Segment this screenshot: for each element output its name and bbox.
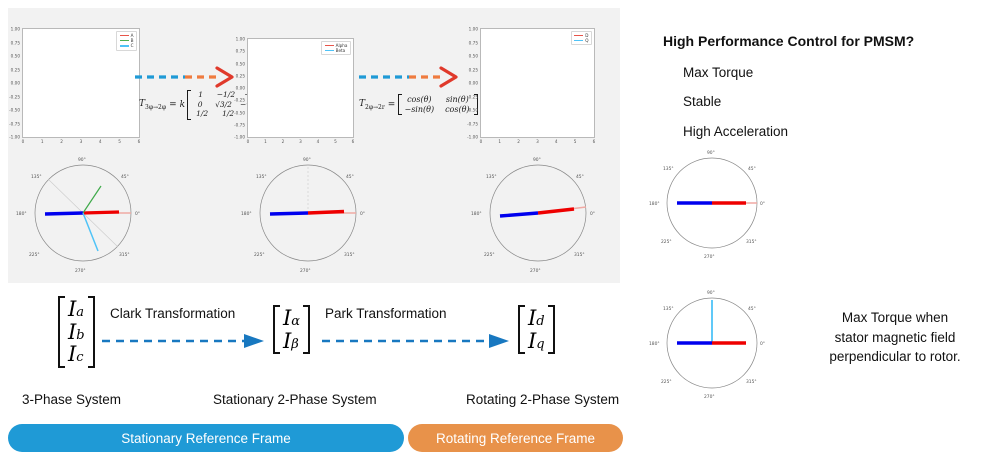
park-transform-formula: T2φ→2r = cos(θ) sin(θ) −sin(θ) cos(θ) [359,94,478,115]
polar-angle-label: 90° [78,157,86,163]
y-tick-label: -0.50 [9,108,20,113]
x-tick-label: 2 [517,139,520,144]
y-tick-label: -0.75 [9,121,20,126]
polar-angle-label: 45° [121,174,129,180]
vector-row: Ia [68,298,85,321]
legend-swatch-q [574,40,583,41]
bracket-left [518,305,525,354]
rotating-reference-frame-banner[interactable]: Rotating Reference Frame [408,424,623,452]
x-tick-label: 2 [60,139,63,144]
bracket-right [548,305,555,354]
polar-angle-label: 180° [471,211,482,217]
polar-angle-label: 45° [576,174,584,180]
matrix-cell: −sin(θ) [404,105,434,114]
max-torque-note: Max Torque when stator magnetic field pe… [800,308,990,367]
y-tick-label: 0.00 [11,81,20,86]
plot-frame: Alpha Beta 1.00 0.75 0.50 0.25 0.00 -0.2… [247,38,354,138]
stationary-two-phase-system-label: Stationary 2-Phase System [213,392,377,407]
polar-angle-label: 135° [31,174,42,180]
note-line: Max Torque when [800,308,990,328]
polar-angle-label: 225° [254,252,265,258]
y-tick-label: -0.50 [234,110,245,115]
polar-angle-label: 90° [533,157,541,163]
y-tick-label: 0.25 [469,67,478,72]
vector-row: Iβ [283,330,300,353]
polar-angle-label: 0° [360,211,365,217]
note-line: perpendicular to rotor. [800,347,990,367]
y-tick-label: -1.00 [9,135,20,140]
y-tick-label: 0.25 [11,67,20,72]
plot-legend: D Q [571,31,592,45]
y-tick-label: 0.75 [469,40,478,45]
matrix-row: −sin(θ) cos(θ) [404,105,472,114]
matrix-cell: 0 [193,101,207,110]
y-tick-label: 1.00 [236,37,245,42]
polar-angle-label: 180° [16,211,27,217]
right-panel-bullet-max-torque: Max Torque [683,65,753,80]
matrix-cell: 1/2 [195,110,209,119]
y-tick-label: -0.75 [234,122,245,127]
polar-angle-label: 135° [663,306,674,312]
x-tick-label: 5 [118,139,121,144]
vector-row: Ib [68,321,85,344]
formula-equals: = [388,100,396,110]
bracket-left [58,296,65,368]
y-tick-label: 0.75 [11,40,20,45]
legend-item: Beta [325,49,348,53]
formula-lhs: T2φ→2r [359,99,385,111]
dq-phasor-polar-plot: 0° 45° 90° 135° 180° 225° 270° 315° [473,148,603,278]
matrix-cell: 1 [194,91,208,100]
polar-angle-label: 45° [346,174,354,180]
y-tick-label: -0.50 [467,108,478,113]
x-tick-label: 4 [99,139,102,144]
y-tick-label: 1.00 [469,27,478,32]
slide-canvas: A B C 1.00 0.75 0.50 0.25 0.00 -0.25 -0.… [0,0,1000,469]
plot-legend: Alpha Beta [321,41,351,55]
polar-angle-label: 270° [530,268,541,274]
dq-plot: D Q 1.00 0.75 0.50 0.25 0.00 -0.25 -0.50… [480,28,595,138]
x-tick-label: 4 [317,139,320,144]
legend-swatch-alpha [325,45,334,46]
polar-angle-label: 315° [746,379,757,385]
x-tick-label: 0 [480,139,483,144]
matrix-cell: −1/2 [217,91,235,100]
polar-angle-label: 0° [135,211,140,217]
polar-angle-label: 90° [707,150,715,156]
polar-angle-label: 180° [241,211,252,217]
plot-frame: D Q 1.00 0.75 0.50 0.25 0.00 -0.25 -0.50… [480,28,595,138]
bracket-right [88,296,95,368]
current-vector-alpha-beta: Iα Iβ [273,305,310,354]
park-transformation-label: Park Transformation [325,306,447,321]
polar-angle-label: 135° [663,166,674,172]
abc-phasor-polar-plot: 0° 45° 90° 135° 180° 225° 270° 315° [18,148,148,278]
y-tick-label: 1.00 [11,27,20,32]
polar-angle-label: 90° [707,290,715,296]
legend-item: Q [574,39,588,43]
right-top-phasor-polar-plot: 0° 45° 90° 135° 180° 225° 270° 315° [652,143,772,263]
y-tick-label: 0.50 [469,54,478,59]
y-tick-label: -0.75 [467,121,478,126]
legend-item: C [120,44,134,48]
legend-label-beta: Beta [336,49,346,53]
polar-angle-label: 270° [75,268,86,274]
polar-angle-label: 180° [649,341,660,347]
x-tick-label: 5 [334,139,337,144]
x-tick-label: 4 [555,139,558,144]
vector-row: Ic [68,343,85,366]
y-tick-label: -0.25 [467,94,478,99]
polar-angle-label: 225° [29,252,40,258]
alpha-beta-phasor-polar-plot: 0° 45° 90° 135° 180° 225° 270° 315° [243,148,373,278]
polar-angle-label: 135° [256,174,267,180]
current-vector-dq: Id Iq [518,305,555,354]
y-tick-label: -0.25 [9,94,20,99]
x-tick-label: 3 [80,139,83,144]
three-phase-system-label: 3-Phase System [22,392,121,407]
x-tick-label: 2 [282,139,285,144]
x-tick-label: 1 [41,139,44,144]
clarke-flow-arrow [102,333,267,349]
polar-angle-label: 315° [119,252,130,258]
y-tick-label: 0.00 [236,86,245,91]
vector-row: Iα [283,307,300,330]
abc-phase-plot: A B C 1.00 0.75 0.50 0.25 0.00 -0.25 -0.… [22,28,140,138]
x-tick-label: 1 [498,139,501,144]
right-panel-title: High Performance Control for PMSM? [663,33,914,49]
polar-angle-label: 225° [661,379,672,385]
x-tick-label: 6 [138,139,141,144]
formula-scalar-k: k [180,100,185,110]
bracket-left [273,305,280,354]
polar-angle-label: 45° [748,166,756,172]
formula-lhs: T3φ→2φ [139,99,166,111]
polar-angle-label: 45° [748,306,756,312]
matrix-cell: 1/2 [221,110,235,119]
x-tick-label: 6 [593,139,596,144]
x-tick-label: 5 [574,139,577,144]
stationary-reference-frame-banner[interactable]: Stationary Reference Frame [8,424,404,452]
plot-frame: A B C 1.00 0.75 0.50 0.25 0.00 -0.25 -0.… [22,28,140,138]
alpha-beta-plot: Alpha Beta 1.00 0.75 0.50 0.25 0.00 -0.2… [247,38,354,138]
matrix-cell: cos(θ) [404,95,434,104]
y-tick-label: 0.50 [11,54,20,59]
legend-label-q: Q [585,39,588,43]
note-line: stator magnetic field [800,328,990,348]
y-tick-label: -1.00 [234,135,245,140]
x-tick-label: 0 [22,139,25,144]
x-tick-label: 3 [536,139,539,144]
legend-swatch-a [120,35,129,36]
y-tick-label: 0.00 [469,81,478,86]
right-bottom-phasor-polar-plot: 0° 45° 90° 135° 180° 225° 270° 315° [652,283,772,403]
x-tick-label: 3 [299,139,302,144]
polar-angle-label: 270° [300,268,311,274]
legend-swatch-c [120,45,129,46]
park-flow-arrow [322,333,512,349]
vector-row: Iq [528,330,545,353]
bracket-right [303,305,310,354]
y-tick-label: 0.50 [236,61,245,66]
y-tick-label: 0.25 [236,73,245,78]
polar-angle-label: 0° [760,201,765,207]
polar-angle-label: 315° [344,252,355,258]
legend-swatch-beta [325,50,334,51]
polar-angle-label: 225° [484,252,495,258]
rotating-two-phase-system-label: Rotating 2-Phase System [466,392,619,407]
legend-swatch-d [574,35,583,36]
polar-angle-label: 180° [649,201,660,207]
y-tick-label: 0.75 [236,49,245,54]
clarke-transformation-label: Clark Transformation [110,306,235,321]
polar-angle-label: 270° [704,394,715,400]
legend-swatch-b [120,40,129,41]
polar-angle-label: 0° [590,211,595,217]
polar-angle-label: 135° [486,174,497,180]
vector-row: Id [528,307,545,330]
right-panel-bullet-stable: Stable [683,94,721,109]
polar-angle-label: 225° [661,239,672,245]
current-vector-abc: Ia Ib Ic [58,296,95,368]
y-tick-label: -1.00 [467,135,478,140]
matrix-row: cos(θ) sin(θ) [404,95,472,104]
plot-legend: A B C [116,31,137,51]
polar-angle-label: 90° [303,157,311,163]
park-transition-arrow [357,66,462,88]
legend-label-c: C [131,44,134,48]
polar-angle-label: 270° [704,254,715,260]
polar-angle-label: 0° [760,341,765,347]
polar-angle-label: 315° [746,239,757,245]
x-tick-label: 0 [247,139,250,144]
banner-label: Stationary Reference Frame [121,431,291,446]
right-panel-bullet-high-acceleration: High Acceleration [683,124,788,139]
x-tick-label: 6 [352,139,355,144]
y-tick-label: -0.25 [234,98,245,103]
formula-equals: = [169,100,177,110]
polar-angle-label: 315° [574,252,585,258]
x-tick-label: 1 [264,139,267,144]
clarke-transition-arrow [133,66,238,88]
banner-label: Rotating Reference Frame [436,431,595,446]
matrix-cell: √3/2 [215,101,232,110]
